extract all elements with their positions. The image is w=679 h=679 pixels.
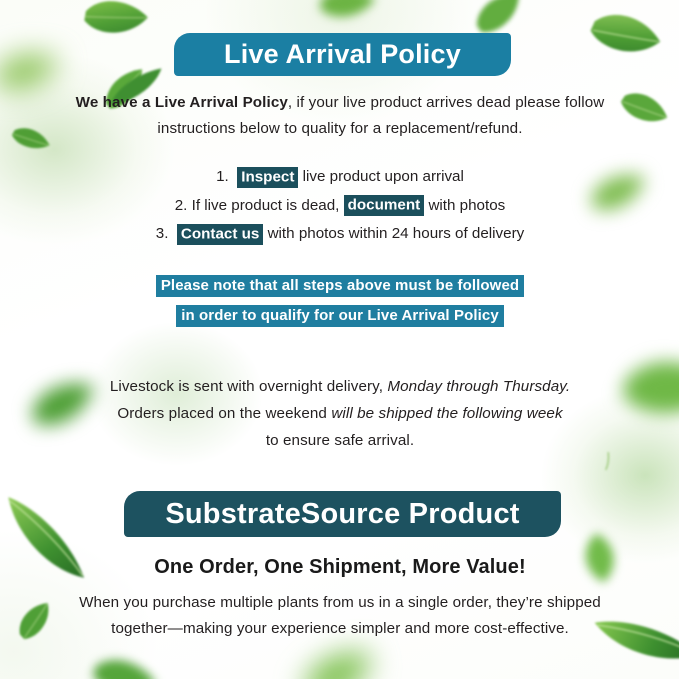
leaf-icon [601, 451, 613, 470]
livestock-line-2: Orders placed on the weekend will be shi… [70, 400, 610, 427]
livestock-line-2-italic: will be shipped the following week [331, 405, 562, 422]
step-highlight-inspect: Inspect [237, 167, 298, 188]
leaf-icon [4, 115, 56, 166]
leaf-icon [609, 338, 679, 448]
substratesource-product-banner: SubstrateSource Product [124, 491, 561, 537]
leaf-icon [611, 78, 675, 141]
step-highlight-document: document [344, 195, 425, 216]
leaf-icon [294, 639, 386, 679]
intro-line-2: instructions below to quality for a repl… [70, 116, 610, 142]
step-highlight-contact-us: Contact us [177, 224, 263, 245]
policy-graphic: Live Arrival Policy We have a Live Arriv… [0, 0, 679, 679]
step-number: 3. [156, 225, 169, 242]
livestock-line-1-italic: Monday through Thursday. [387, 378, 570, 395]
outro-line-1: When you purchase multiple plants from u… [70, 590, 610, 616]
leaf-icon [76, 0, 155, 55]
substratesource-product-banner-label: SubstrateSource Product [165, 498, 519, 531]
livestock-line-1-plain: Livestock is sent with overnight deliver… [110, 378, 383, 395]
live-arrival-policy-banner-label: Live Arrival Policy [224, 39, 461, 70]
policy-note: Please note that all steps above must be… [70, 273, 610, 329]
step-number: 2. [175, 197, 188, 214]
livestock-paragraph: Livestock is sent with overnight deliver… [70, 373, 610, 454]
policy-note-line-2: in order to qualify for our Live Arrival… [176, 305, 504, 327]
livestock-line-1: Livestock is sent with overnight deliver… [70, 373, 610, 400]
live-arrival-policy-banner: Live Arrival Policy [174, 33, 511, 76]
policy-note-line-1: Please note that all steps above must be… [156, 275, 524, 297]
intro-lead-text: We have a Live Arrival Policy [76, 94, 288, 111]
livestock-line-3: to ensure safe arrival. [70, 427, 610, 454]
step-text: live product upon arrival [303, 168, 464, 185]
steps-list: 1. Inspect live product upon arrival 2. … [70, 163, 610, 249]
list-item: 1. Inspect live product upon arrival [70, 163, 610, 192]
policy-note-line-2-wrapper: in order to qualify for our Live Arrival… [70, 303, 610, 329]
outro-paragraph: When you purchase multiple plants from u… [70, 590, 610, 642]
leaf-icon [8, 595, 65, 649]
leaf-icon [0, 44, 62, 104]
value-subheadline: One Order, One Shipment, More Value! [70, 556, 610, 579]
intro-rest-text: , if your live product arrives dead plea… [288, 94, 604, 111]
step-text-before: If live product is dead, [192, 197, 340, 214]
livestock-line-2-plain: Orders placed on the weekend [117, 405, 327, 422]
intro-paragraph: We have a Live Arrival Policy, if your l… [70, 90, 610, 142]
leaf-icon [314, 0, 379, 33]
step-number: 1. [216, 168, 229, 185]
policy-note-line-1-wrapper: Please note that all steps above must be… [70, 273, 610, 299]
leaf-icon [82, 642, 164, 679]
intro-line-1: We have a Live Arrival Policy, if your l… [70, 90, 610, 116]
list-item: 3. Contact us with photos within 24 hour… [70, 220, 610, 249]
leaf-icon [579, 0, 669, 79]
step-text: with photos [428, 197, 505, 214]
list-item: 2. If live product is dead, document wit… [70, 192, 610, 221]
step-text: with photos within 24 hours of delivery [268, 225, 525, 242]
outro-line-2: together—making your experience simpler … [70, 616, 610, 642]
